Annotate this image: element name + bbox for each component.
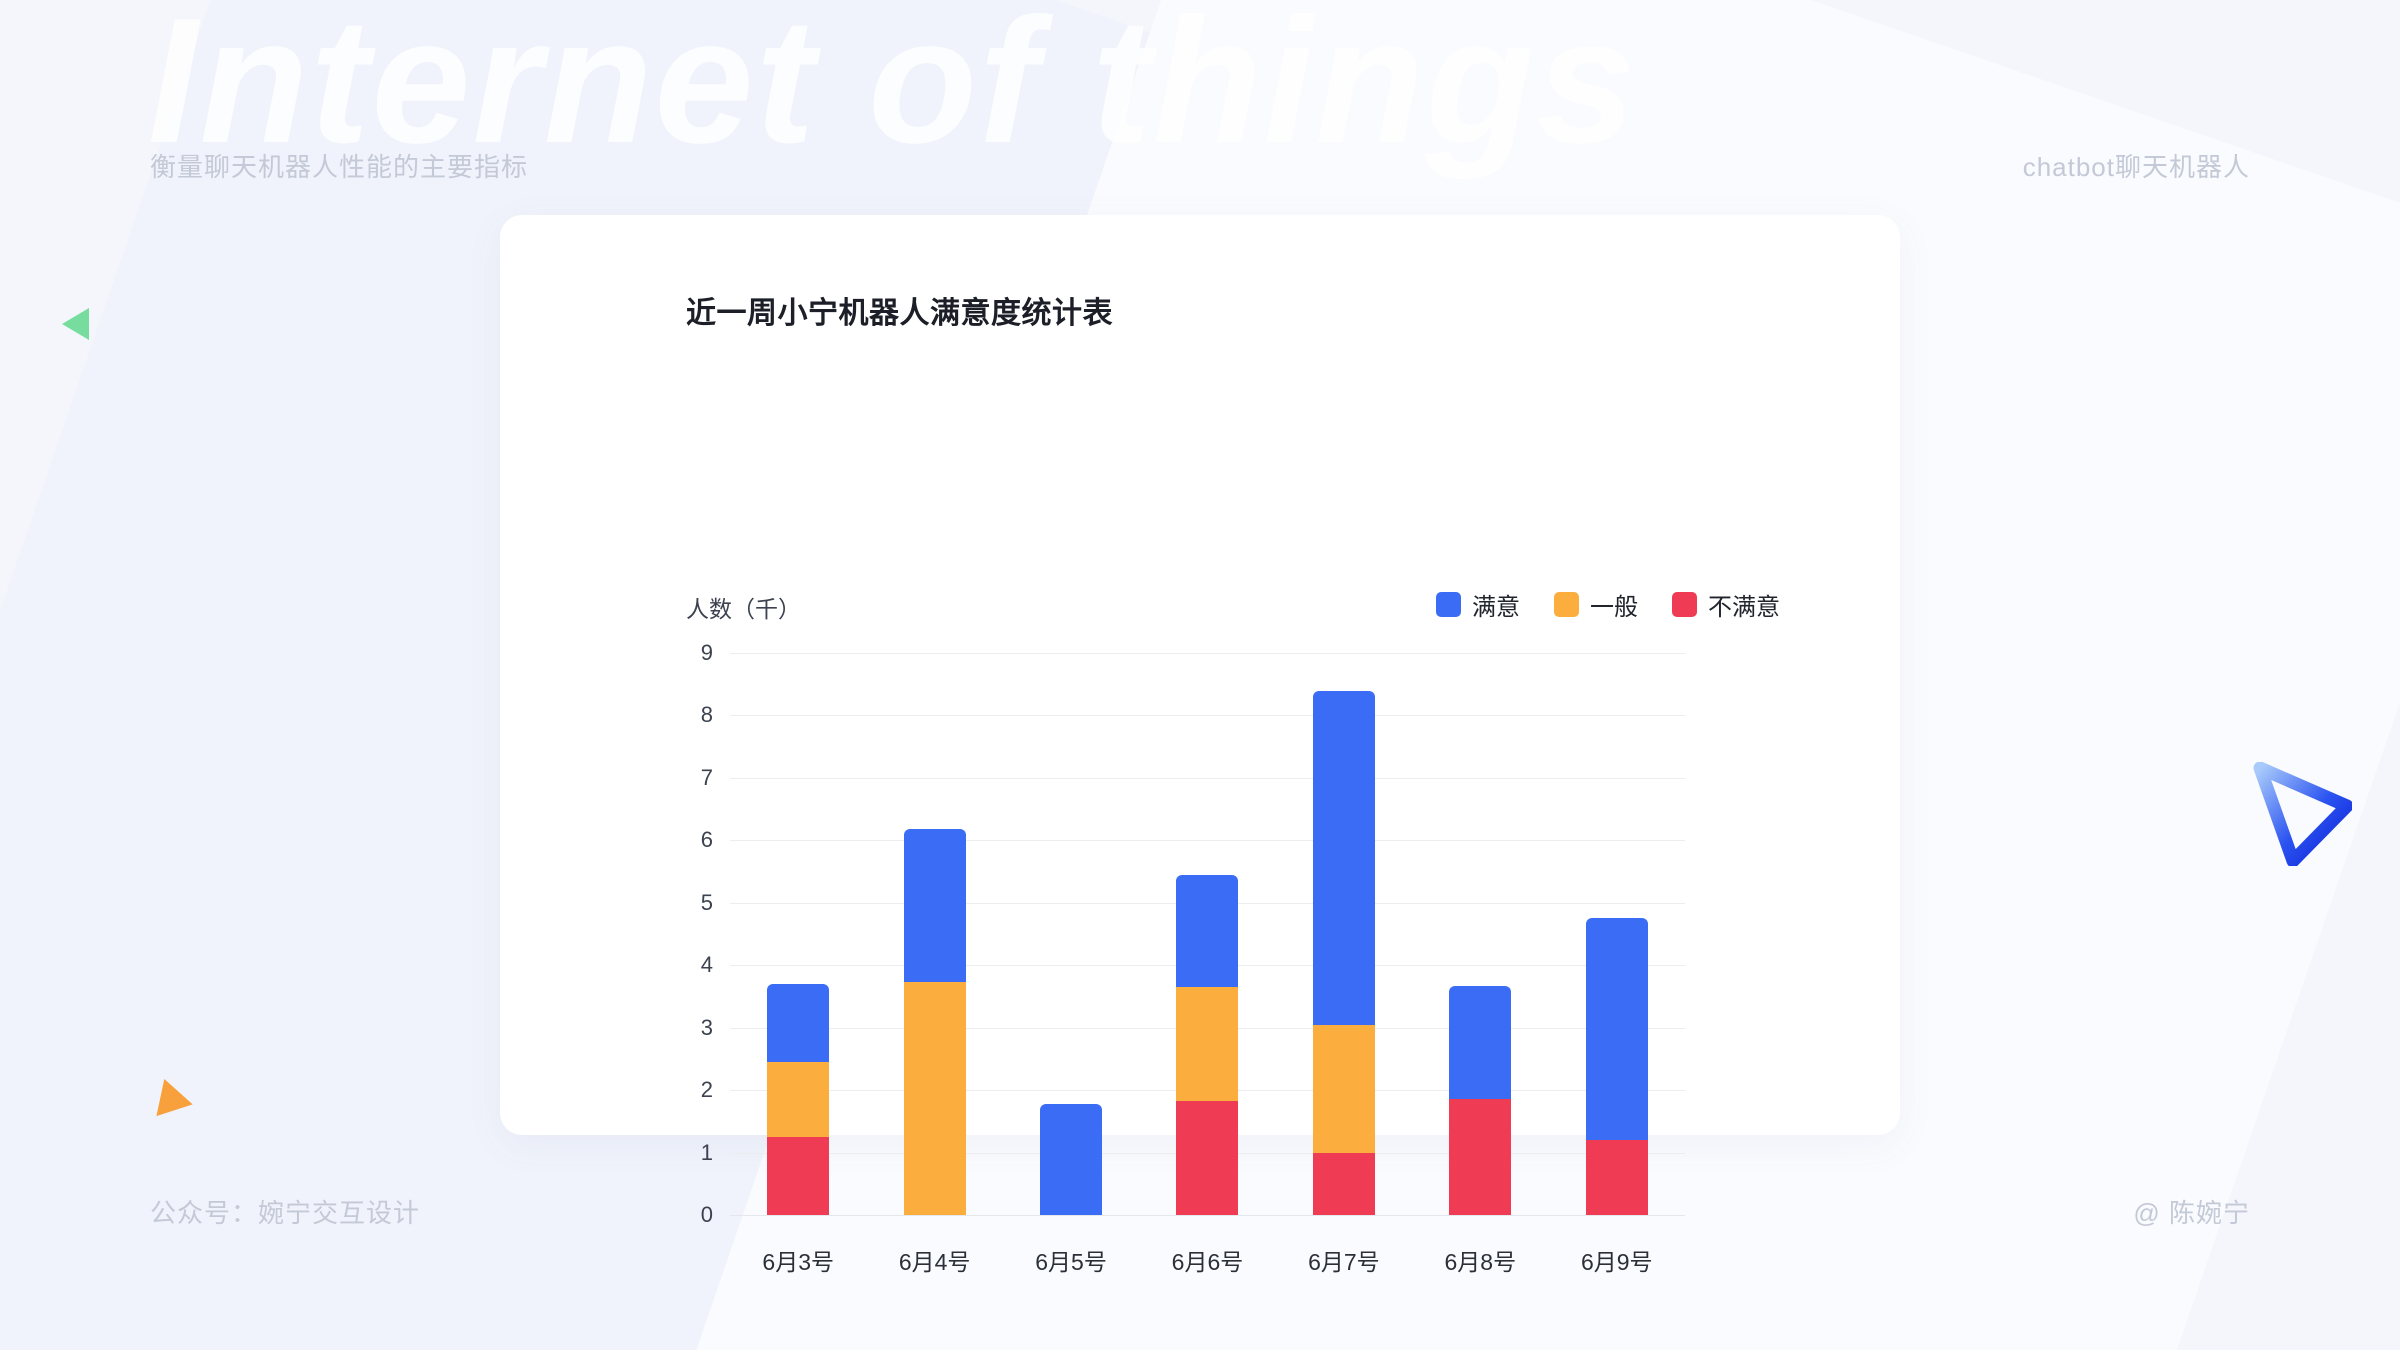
green-triangle-icon [62,308,89,340]
y-axis-tick-label: 8 [701,702,713,728]
x-axis-tick-label: 6月8号 [1445,1243,1517,1277]
y-axis-tick-label: 2 [701,1077,713,1103]
footer-right-label: @ 陈婉宁 [2133,1193,2250,1230]
bar-segment[interactable] [1313,1153,1375,1215]
bar-segment[interactable] [1449,986,1511,1100]
y-axis-tick-label: 1 [701,1140,713,1166]
bar-stack[interactable] [904,829,966,1215]
legend-item[interactable]: 满意 [1436,587,1520,622]
bar-segment[interactable] [767,1137,829,1215]
bar-segment[interactable] [1313,1025,1375,1153]
bar-segment[interactable] [767,984,829,1062]
bar-segment[interactable] [1313,691,1375,1025]
bar-segment[interactable] [1586,918,1648,1140]
x-axis-tick-label: 6月9号 [1581,1243,1653,1277]
legend-label: 满意 [1472,587,1520,622]
bar-column[interactable]: 6月6号 [1176,653,1238,1215]
gridline: 0 [730,1215,1685,1216]
y-axis-tick-label: 7 [701,765,713,791]
y-axis-tick-label: 3 [701,1015,713,1041]
y-axis-tick-label: 6 [701,827,713,853]
bar-segment[interactable] [1586,1140,1648,1215]
chart-card: 近一周小宁机器人满意度统计表 人数（千） 满意一般不满意 0123456789 … [500,215,1900,1135]
legend-item[interactable]: 一般 [1554,587,1638,622]
legend-item[interactable]: 不满意 [1672,587,1780,622]
x-axis-tick-label: 6月6号 [1172,1243,1244,1277]
legend-label: 一般 [1590,587,1638,622]
bar-column[interactable]: 6月8号 [1449,653,1511,1215]
y-axis-tick-label: 5 [701,890,713,916]
x-axis-tick-label: 6月5号 [1035,1243,1107,1277]
bar-segment[interactable] [1040,1104,1102,1215]
bars-group: 6月3号6月4号6月5号6月6号6月7号6月8号6月9号 [730,653,1685,1215]
bar-segment[interactable] [767,1062,829,1137]
legend-swatch-icon [1554,592,1579,617]
legend-swatch-icon [1672,592,1697,617]
header-left-label: 衡量聊天机器人性能的主要指标 [150,147,528,184]
y-axis-tick-label: 4 [701,952,713,978]
bar-segment[interactable] [1449,1099,1511,1215]
bar-segment[interactable] [904,982,966,1215]
bar-column[interactable]: 6月4号 [904,653,966,1215]
bar-segment[interactable] [904,829,966,982]
chart-plot-area: 0123456789 6月3号6月4号6月5号6月6号6月7号6月8号6月9号 [730,653,1685,1215]
bar-column[interactable]: 6月9号 [1586,653,1648,1215]
legend-label: 不满意 [1708,587,1780,622]
bar-stack[interactable] [767,984,829,1215]
bar-segment[interactable] [1176,1101,1238,1215]
bar-stack[interactable] [1313,691,1375,1216]
bar-stack[interactable] [1449,986,1511,1215]
x-axis-tick-label: 6月7号 [1308,1243,1380,1277]
bar-segment[interactable] [1176,987,1238,1101]
chart-legend: 满意一般不满意 [1436,587,1780,622]
bar-column[interactable]: 6月5号 [1040,653,1102,1215]
bar-stack[interactable] [1176,875,1238,1215]
blue-triangle-icon [2248,762,2352,871]
bar-segment[interactable] [1176,875,1238,987]
bar-stack[interactable] [1586,918,1648,1215]
y-axis-title: 人数（千） [686,590,801,624]
chart-title: 近一周小宁机器人满意度统计表 [686,288,1113,332]
x-axis-tick-label: 6月4号 [899,1243,971,1277]
legend-swatch-icon [1436,592,1461,617]
x-axis-tick-label: 6月3号 [762,1243,834,1277]
y-axis-tick-label: 0 [701,1202,713,1228]
y-axis-tick-label: 9 [701,640,713,666]
bar-column[interactable]: 6月3号 [767,653,829,1215]
bar-stack[interactable] [1040,1104,1102,1215]
header-right-label: chatbot聊天机器人 [2023,147,2250,184]
footer-left-label: 公众号：婉宁交互设计 [150,1193,420,1230]
bar-column[interactable]: 6月7号 [1313,653,1375,1215]
